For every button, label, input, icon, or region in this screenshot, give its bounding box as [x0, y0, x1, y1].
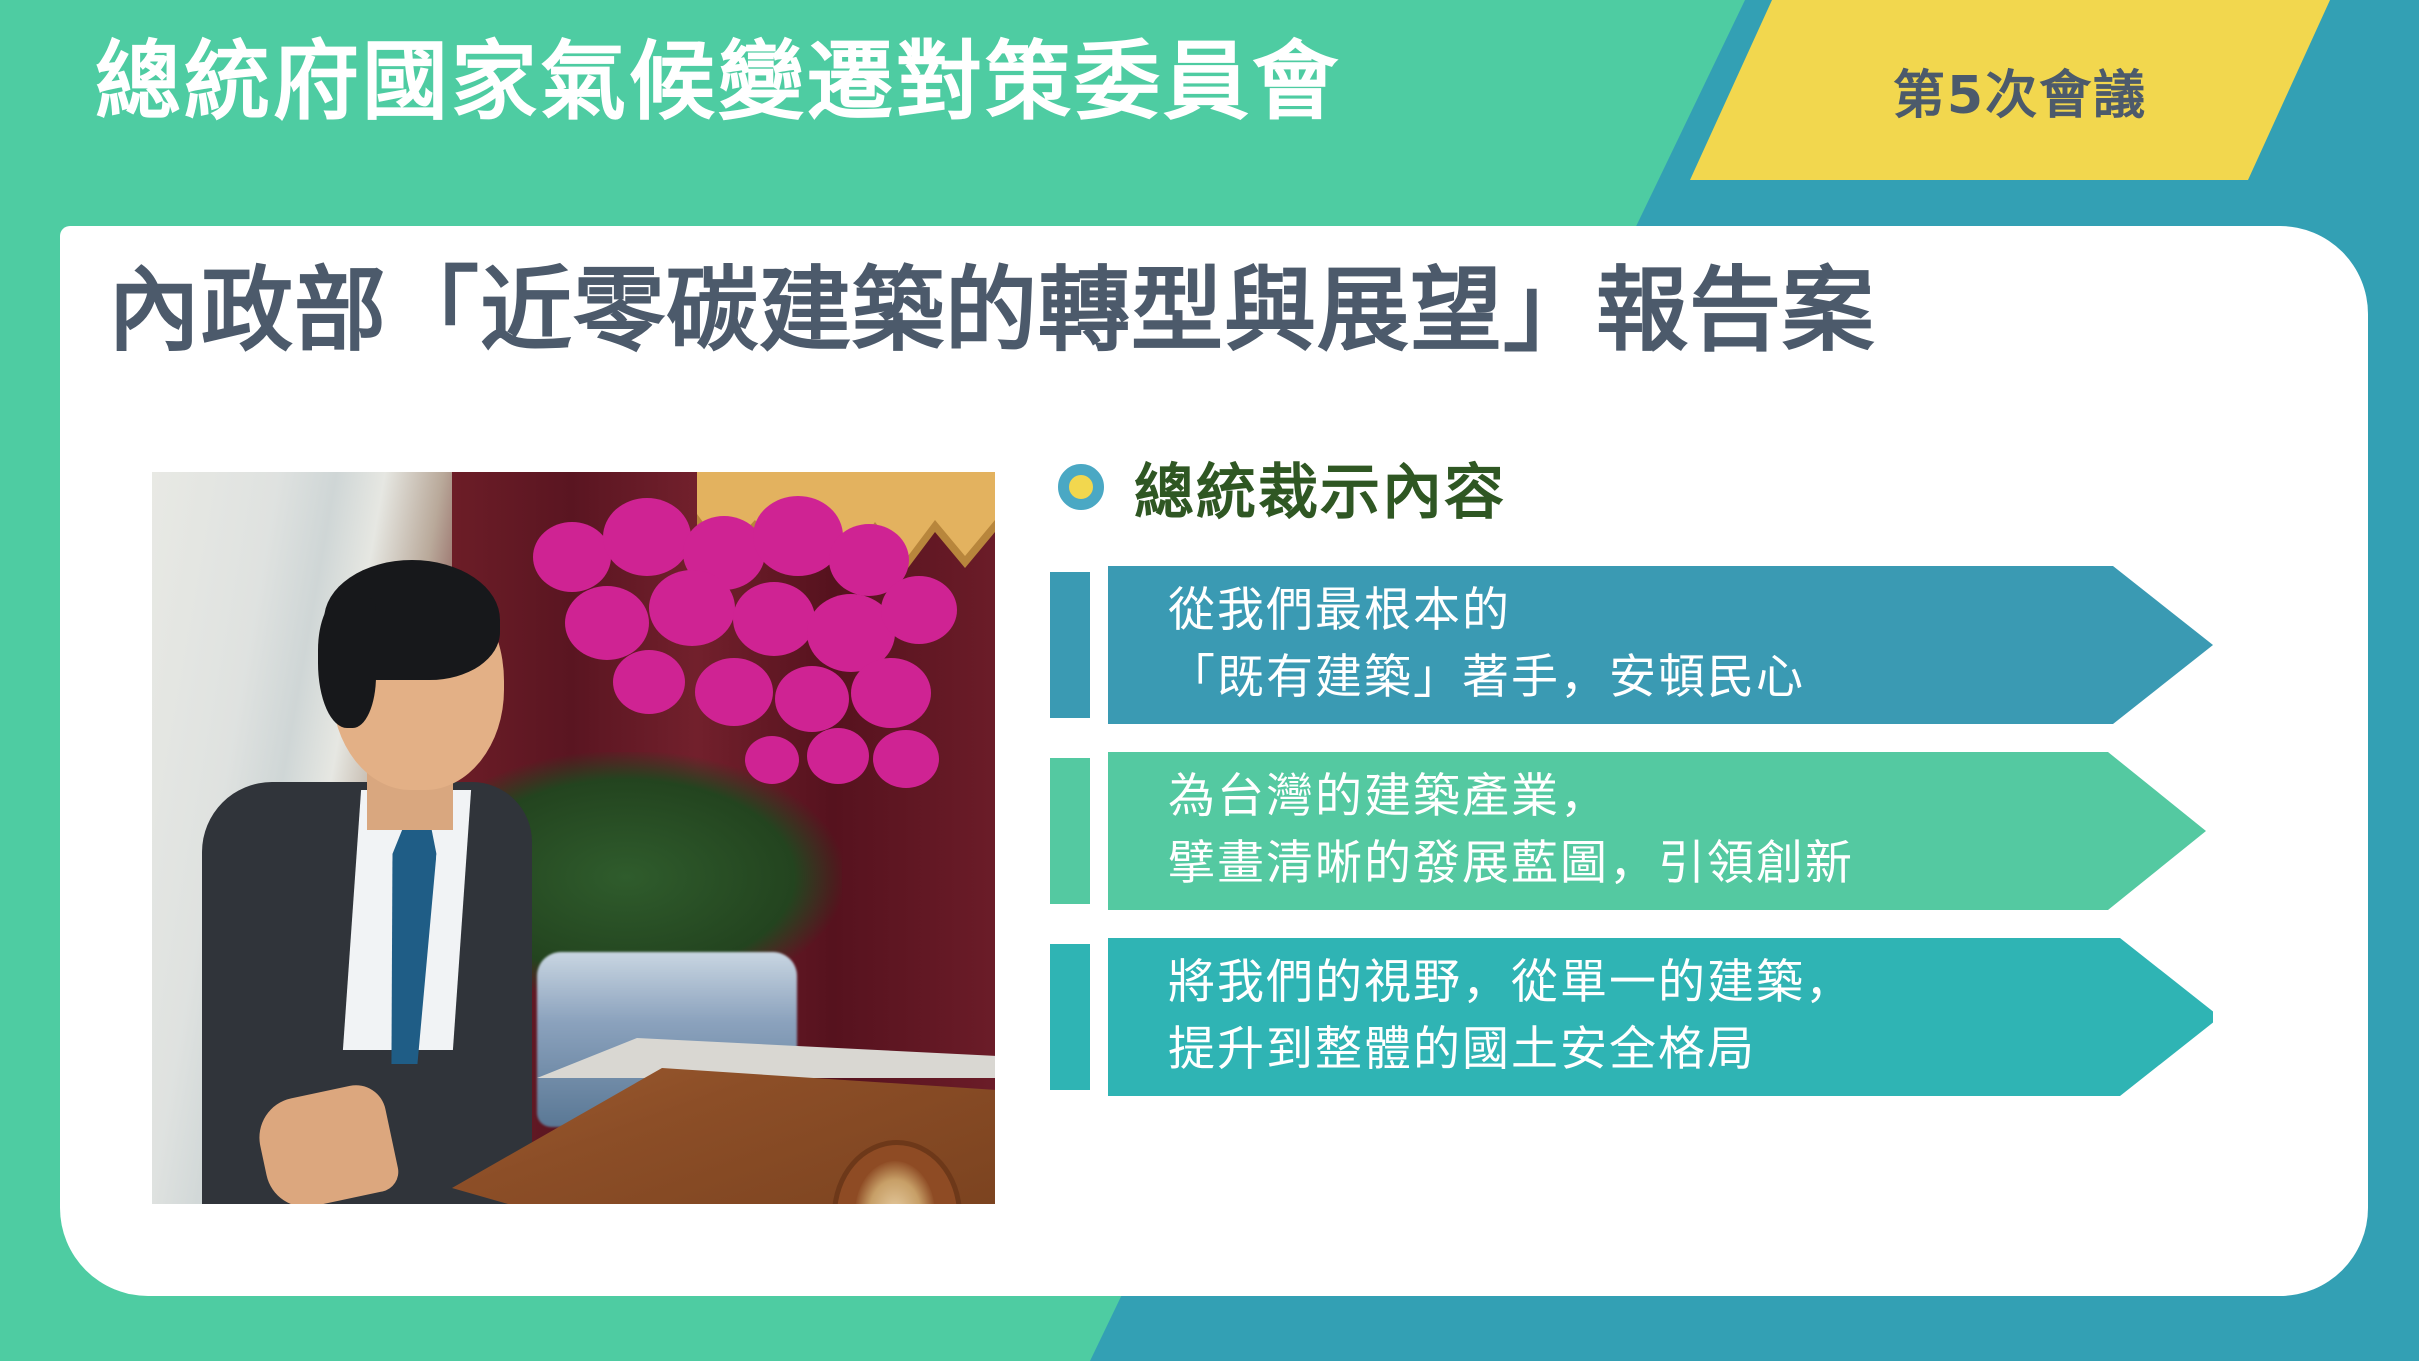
photo-podium-top	[452, 1038, 995, 1078]
slide-header: 總統府國家氣候變遷對策委員會 第5次會議	[0, 0, 2419, 230]
directive-item-2: 為台灣的建築產業， 擘畫清晰的發展藍圖，引領創新	[1050, 752, 2210, 910]
directive-line: 將我們的視野，從單一的建築，	[1168, 950, 2213, 1017]
directive-accent-bar-3	[1050, 944, 1090, 1090]
badge-label: 第5次會議	[1690, 0, 2330, 180]
directive-line: 「既有建築」著手，安頓民心	[1168, 645, 2213, 712]
directive-banner-3: 將我們的視野，從單一的建築， 提升到整體的國土安全格局	[1108, 938, 2213, 1096]
photo-podium	[452, 992, 995, 1204]
directive-line: 為台灣的建築產業，	[1168, 764, 2213, 831]
directive-banner-1: 從我們最根本的 「既有建築」著手，安頓民心	[1108, 566, 2213, 724]
directives-column: 總統裁示內容 從我們最根本的 「既有建築」著手，安頓民心 為台灣的建築產業， 擘…	[1050, 442, 2210, 1096]
directive-line: 提升到整體的國土安全格局	[1168, 1017, 2213, 1084]
directive-banner-2: 為台灣的建築產業， 擘畫清晰的發展藍圖，引領創新	[1108, 752, 2213, 910]
page-title: 內政部「近零碳建築的轉型與展望」報告案	[108, 258, 1875, 364]
directive-accent-bar-1	[1050, 572, 1090, 718]
meeting-number-badge: 第5次會議	[1690, 0, 2330, 180]
directive-item-3: 將我們的視野，從單一的建築， 提升到整體的國土安全格局	[1050, 938, 2210, 1096]
section-header: 總統裁示內容	[1050, 442, 2210, 538]
slide-root: 總統府國家氣候變遷對策委員會 第5次會議 內政部「近零碳建築的轉型與展望」報告案	[0, 0, 2419, 1361]
section-heading: 總統裁示內容	[1134, 444, 1506, 531]
directive-item-1: 從我們最根本的 「既有建築」著手，安頓民心	[1050, 566, 2210, 724]
directive-line: 從我們最根本的	[1168, 578, 2213, 645]
organization-title: 總統府國家氣候變遷對策委員會	[95, 32, 1341, 133]
photo-speaker-hair-side	[318, 598, 376, 728]
directive-accent-bar-2	[1050, 758, 1090, 904]
directive-line: 擘畫清晰的發展藍圖，引領創新	[1168, 831, 2213, 898]
circle-bullet-icon	[1058, 464, 1104, 510]
president-speech-photo	[152, 472, 995, 1204]
